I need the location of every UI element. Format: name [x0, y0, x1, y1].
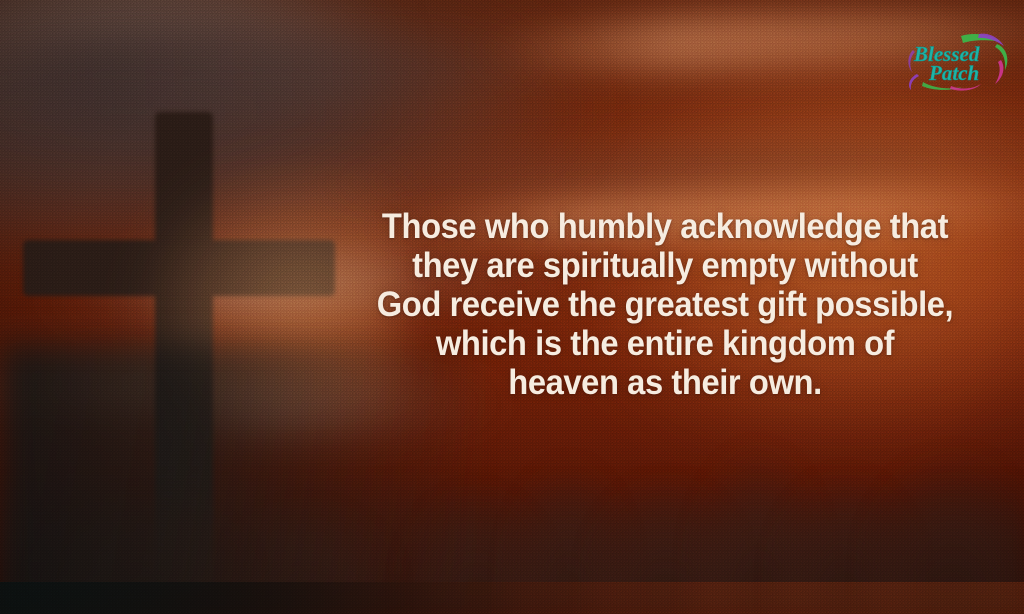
quote-line-5: heaven as their own.	[350, 363, 980, 402]
logo-word-patch: Patch	[928, 61, 979, 85]
bottom-light-band-tint	[0, 582, 1024, 614]
quote-text-block: Those who humbly acknowledge that they a…	[328, 207, 1002, 402]
blessed-patch-logo[interactable]: Blessed Patch	[905, 30, 1015, 92]
quote-graphic-canvas: Those who humbly acknowledge that they a…	[0, 0, 1024, 614]
quote-line-4: which is the entire kingdom of	[350, 324, 980, 363]
quote-line-3: God receive the greatest gift possible,	[350, 285, 980, 324]
quote-line-2: they are spiritually empty without	[350, 246, 980, 285]
quote-line-1: Those who humbly acknowledge that	[350, 207, 980, 246]
logo-wordmark: Blessed Patch	[913, 42, 980, 85]
